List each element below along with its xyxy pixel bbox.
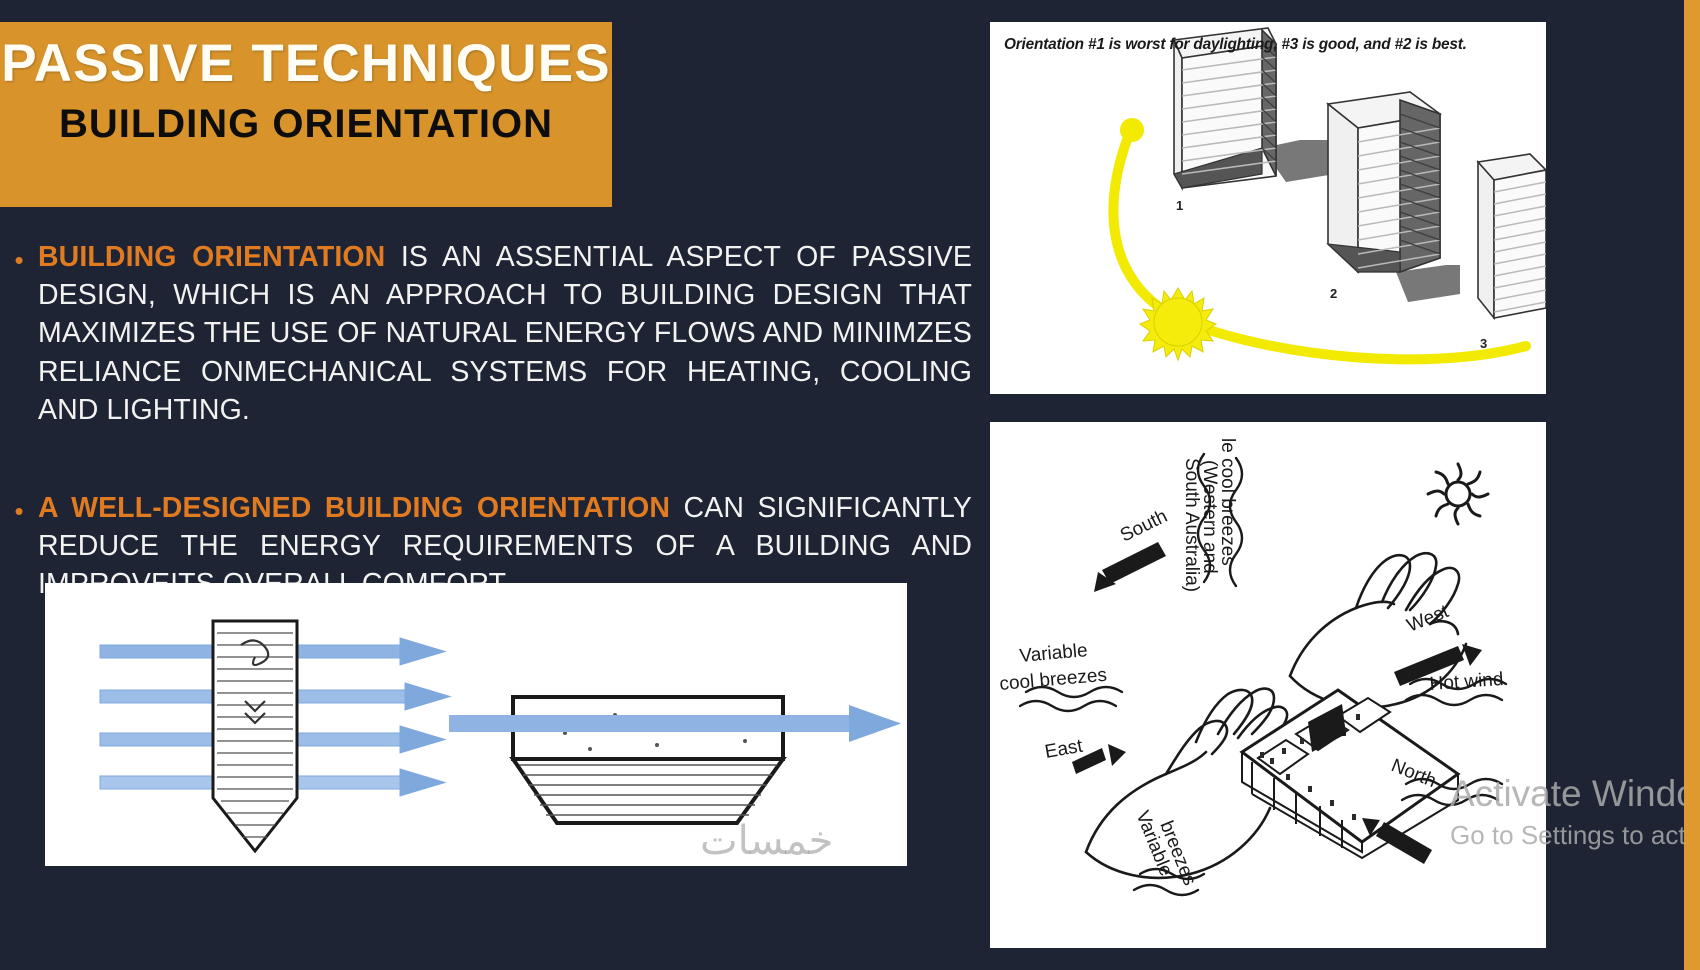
building-label-1: 1 — [1176, 198, 1183, 213]
bullet-body: BUILDING ORIENTATION IS AN ASSENTIAL ASP… — [38, 238, 1030, 429]
slide-canvas: PASSIVE TECHNIQUES BUILDING ORIENTATION … — [0, 0, 1700, 970]
wind-flow-figure — [45, 583, 907, 866]
building-label-3: 3 — [1480, 336, 1487, 351]
narrow-building-plan — [213, 621, 297, 851]
sun-burst-icon — [1428, 464, 1488, 524]
label-south: South — [1117, 506, 1171, 547]
orientation-figure: Orientation #1 is worst for daylighting,… — [990, 22, 1546, 394]
sun-path-end-dot — [1120, 118, 1144, 142]
page-subtitle: BUILDING ORIENTATION — [59, 102, 553, 146]
building-3 — [1478, 154, 1546, 318]
page-title: PASSIVE TECHNIQUES — [1, 36, 611, 92]
bullet-highlight: A WELL-DESIGNED BUILDING ORIENTATION — [38, 492, 670, 524]
orientation-illustration: 1 — [990, 22, 1546, 394]
label-east: East — [1043, 736, 1085, 763]
list-item: • BUILDING ORIENTATION IS AN ASSENTIAL A… — [0, 238, 1030, 429]
compass-hands-illustration: le cool breezes (Western and South Austr… — [990, 422, 1546, 948]
bullet-highlight: BUILDING ORIENTATION — [38, 241, 385, 273]
orientation-caption: Orientation #1 is worst for daylighting,… — [1004, 36, 1467, 54]
wind-flow-illustration — [45, 583, 907, 866]
bullet-marker: • — [0, 489, 38, 531]
compass-hands-figure: le cool breezes (Western and South Austr… — [990, 422, 1546, 948]
label-variable-cool-breezes: Variable — [1019, 640, 1089, 667]
building-label-2: 2 — [1330, 286, 1337, 301]
label-wa-line3: South Australia) — [1181, 458, 1202, 592]
bullet-marker: • — [0, 238, 38, 280]
label-west: West — [1404, 601, 1452, 637]
label-hot-wind: Hot wind — [1429, 669, 1504, 695]
building-2 — [1328, 92, 1440, 272]
right-accent-strip — [1684, 0, 1700, 970]
title-block: PASSIVE TECHNIQUES BUILDING ORIENTATION — [0, 22, 612, 207]
